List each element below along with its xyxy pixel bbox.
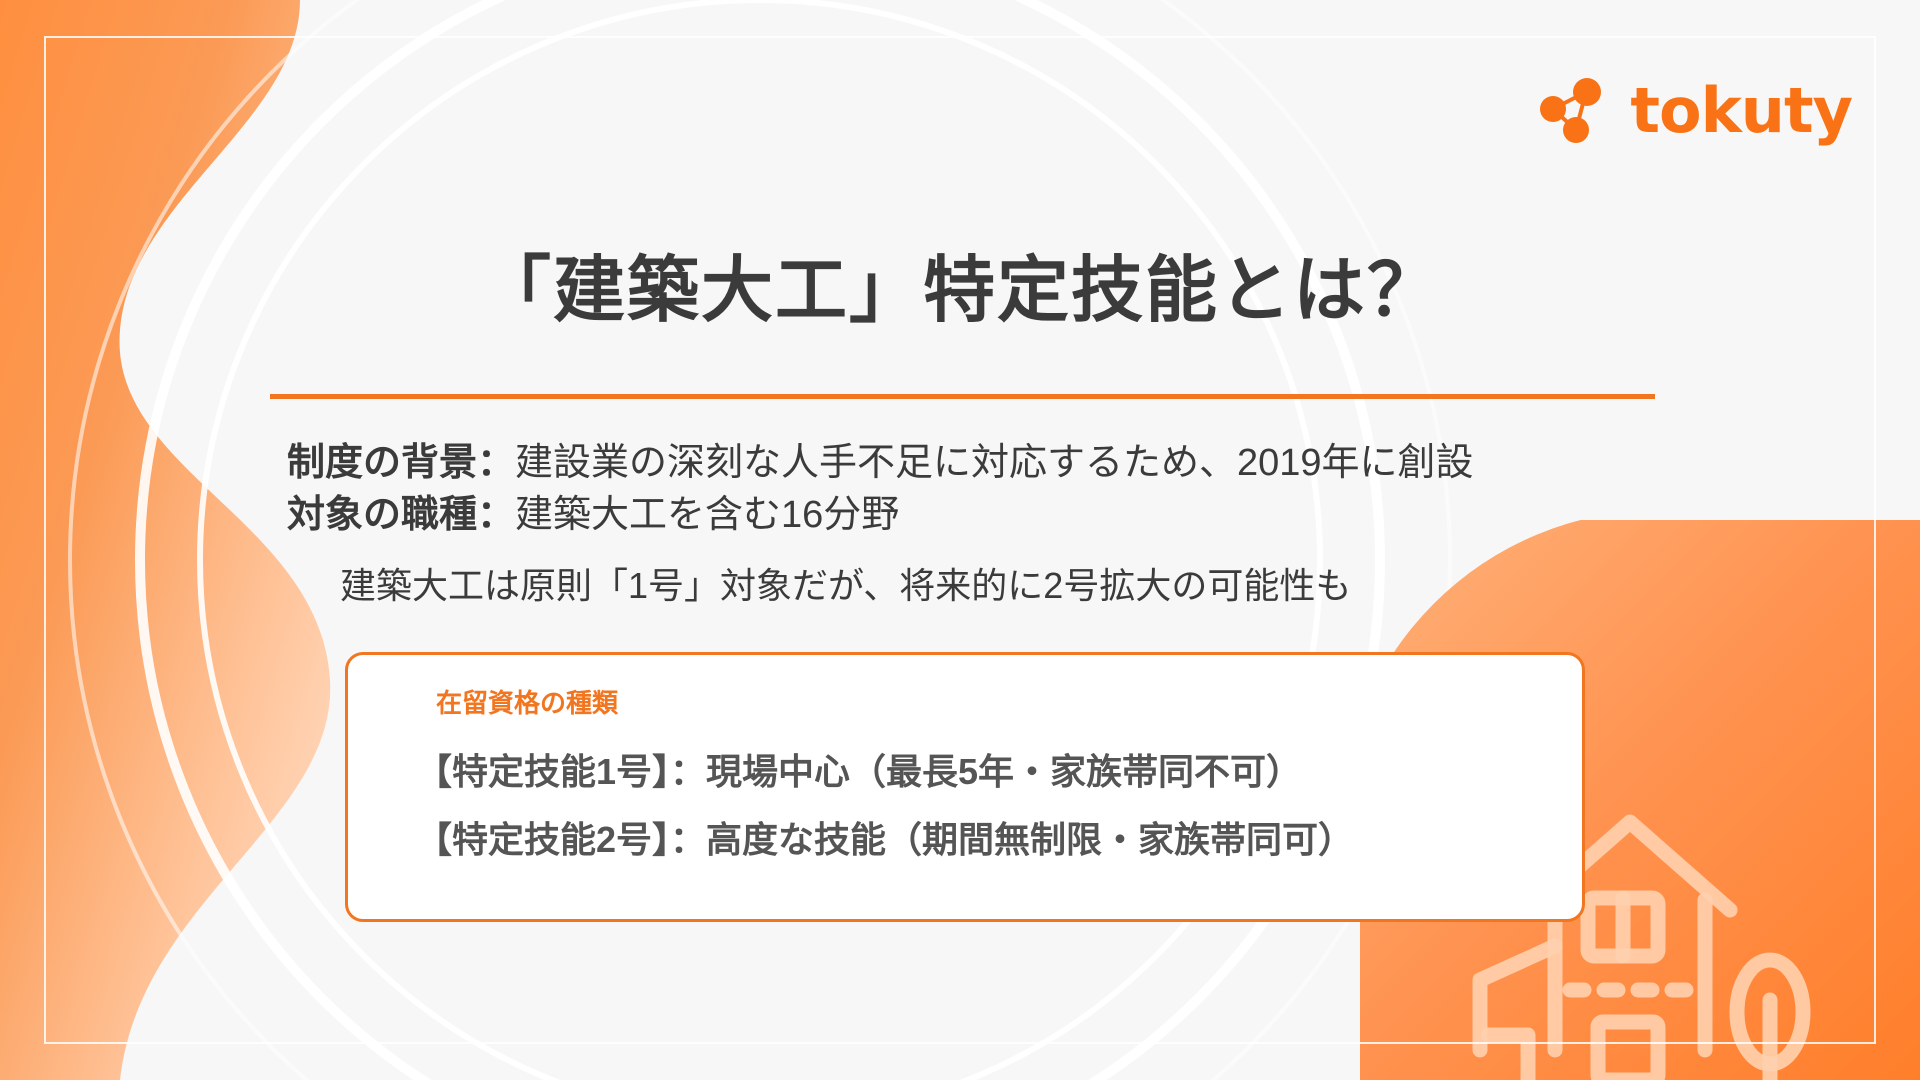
body-line-background-label: 制度の背景： <box>287 442 515 484</box>
card-row-ssw1: 【特定技能1号】：現場中心（最長5年・家族帯同不可） <box>416 743 1302 795</box>
body-line-occupations: 対象の職種：建築大工を含む16分野 <box>287 490 899 541</box>
slide-canvas: tokuty 「建築大工」特定技能とは？ 制度の背景：建設業の深刻な人手不足に対… <box>0 0 1920 1080</box>
page-title: 「建築大工」特定技能とは？ <box>0 252 1920 331</box>
body-line-occupations-text: 建築大工を含む16分野 <box>515 494 899 536</box>
body-line-background: 制度の背景：建設業の深刻な人手不足に対応するため、2019年に創設 <box>287 438 1474 489</box>
body-note: 建築大工は原則「1号」対象だが、将来的に2号拡大の可能性も <box>340 562 1351 611</box>
body-line-background-text: 建設業の深刻な人手不足に対応するため、2019年に創設 <box>515 442 1474 484</box>
title-divider <box>270 394 1655 399</box>
card-title: 在留資格の種類 <box>436 683 618 720</box>
card-row-ssw2: 【特定技能2号】：高度な技能（期間無制限・家族帯同可） <box>416 811 1354 863</box>
body-line-occupations-label: 対象の職種： <box>287 494 515 536</box>
residence-status-card: 在留資格の種類 【特定技能1号】：現場中心（最長5年・家族帯同不可） 【特定技能… <box>345 652 1585 922</box>
slide-content: 「建築大工」特定技能とは？ 制度の背景：建設業の深刻な人手不足に対応するため、2… <box>0 0 1920 1080</box>
